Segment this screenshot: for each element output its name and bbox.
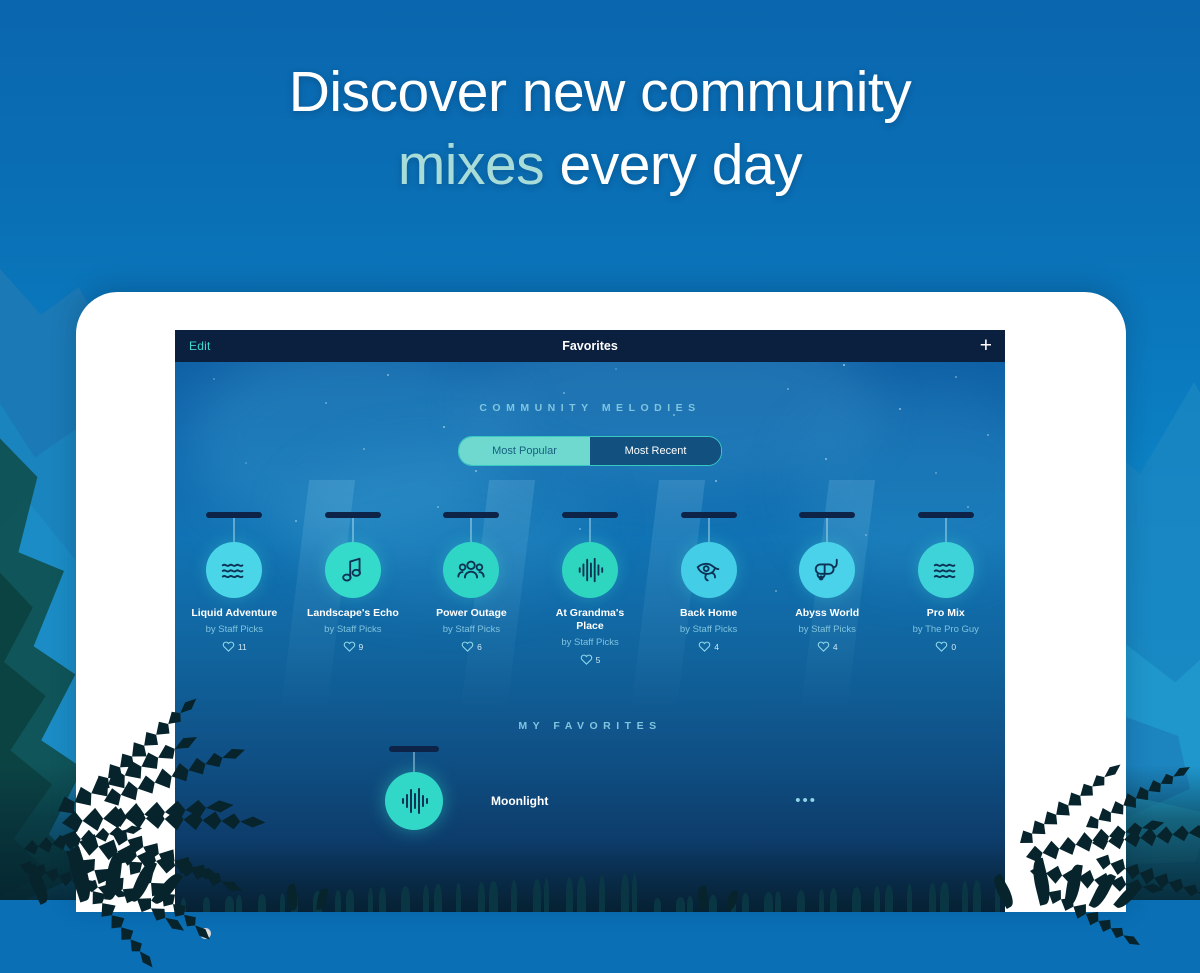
grass-blade	[830, 888, 837, 912]
lamp-cord	[233, 518, 235, 544]
melody-card[interactable]: At Grandma's Place by Staff Picks 5	[531, 512, 650, 666]
star	[437, 506, 439, 508]
tab-most-popular[interactable]: Most Popular	[459, 437, 590, 465]
star	[935, 472, 937, 474]
heart-icon	[222, 640, 235, 653]
app-navbar: Edit Favorites +	[175, 330, 1005, 362]
grass-blade	[478, 882, 485, 912]
grass-blade	[654, 898, 661, 912]
melody-card[interactable]: Abyss World by Staff Picks 4	[768, 512, 887, 666]
grass-blade	[819, 889, 824, 912]
headline-line-1: Discover new community	[0, 56, 1200, 129]
grass-blade	[621, 874, 629, 912]
favorite-lamp	[385, 746, 443, 830]
waveform-icon[interactable]	[385, 772, 443, 830]
melody-author: by Staff Picks	[680, 624, 737, 635]
waves-icon[interactable]	[918, 542, 974, 598]
tab-most-recent[interactable]: Most Recent	[590, 437, 721, 465]
grass-blade	[874, 886, 880, 912]
melody-title: Liquid Adventure	[191, 607, 277, 620]
star	[967, 506, 969, 508]
grass-blade	[280, 893, 285, 912]
like-count: 0	[951, 642, 956, 652]
melody-title: At Grandma's Place	[543, 607, 637, 633]
melody-card[interactable]: Liquid Adventure by Staff Picks 11	[175, 512, 294, 666]
headline-line-2: mixes every day	[0, 129, 1200, 202]
melody-author: by The Pro Guy	[913, 624, 979, 635]
lamp-cord	[470, 518, 472, 544]
grass-blade	[632, 873, 637, 912]
like-counter[interactable]: 6	[461, 640, 482, 653]
grass-blade	[764, 892, 773, 912]
melody-card[interactable]: Landscape's Echo by Staff Picks 9	[294, 512, 413, 666]
community-melodies-list: Liquid Adventure by Staff Picks 11 Lands…	[175, 512, 1005, 666]
melody-title: Landscape's Echo	[307, 607, 399, 620]
like-count: 6	[477, 642, 482, 652]
grass-blade	[797, 890, 805, 912]
grass-blade	[368, 888, 373, 912]
diving-mask-icon[interactable]	[799, 542, 855, 598]
lamp-cord	[708, 518, 710, 544]
waves-icon[interactable]	[206, 542, 262, 598]
melody-author: by Staff Picks	[561, 637, 618, 648]
melody-title: Pro Mix	[927, 607, 965, 620]
grass-blade	[676, 897, 685, 912]
app-screen: Edit Favorites + COMMUNITY MELODIES Most…	[175, 330, 1005, 912]
lamp-cord	[826, 518, 828, 544]
app-content: COMMUNITY MELODIES Most Popular Most Rec…	[175, 362, 1005, 466]
grass-blade	[258, 894, 266, 912]
like-counter[interactable]: 4	[698, 640, 719, 653]
headline-rest: every day	[544, 133, 802, 197]
grass-blade	[423, 885, 429, 912]
list-item[interactable]: Moonlight •••	[175, 746, 1005, 836]
like-counter[interactable]: 11	[222, 640, 247, 653]
lamp-cord	[352, 518, 354, 544]
heart-icon	[580, 653, 593, 666]
grass-blade	[225, 896, 234, 912]
people-group-icon[interactable]	[443, 542, 499, 598]
melody-card[interactable]: Pro Mix by The Pro Guy 0	[886, 512, 1005, 666]
like-count: 5	[596, 655, 601, 665]
lamp-cord	[945, 518, 947, 544]
community-section-title: COMMUNITY MELODIES	[175, 402, 1005, 414]
melody-title: Power Outage	[436, 607, 507, 620]
heart-icon	[343, 640, 356, 653]
favorite-title: Moonlight	[491, 794, 548, 808]
grass-blade	[742, 893, 749, 912]
like-count: 4	[714, 642, 719, 652]
grass-blade	[511, 880, 517, 912]
like-count: 9	[359, 642, 364, 652]
my-favorites-section: MY FAVORITES Moonlight •••	[175, 720, 1005, 836]
grass-blade	[940, 882, 949, 912]
grass-blade	[335, 890, 341, 912]
grass-blade	[709, 895, 717, 912]
waveform-icon[interactable]	[562, 542, 618, 598]
star	[715, 480, 717, 482]
grass-blade	[687, 896, 693, 912]
grass-blade	[544, 878, 549, 912]
add-icon[interactable]: +	[980, 337, 992, 355]
like-counter[interactable]: 5	[580, 653, 601, 666]
screen-bottom-vegetation	[175, 842, 1005, 912]
page-title: Discover new community mixes every day	[0, 56, 1200, 202]
melody-author: by Staff Picks	[206, 624, 263, 635]
grass-blade	[962, 881, 968, 912]
melody-title: Back Home	[680, 607, 737, 620]
music-note-icon[interactable]	[325, 542, 381, 598]
grass-blade	[346, 889, 354, 912]
grass-blade	[566, 877, 573, 912]
navbar-title: Favorites	[175, 339, 1005, 353]
grass-blade	[489, 881, 498, 912]
edit-button[interactable]: Edit	[189, 339, 210, 353]
grass-blade	[203, 897, 210, 912]
heart-icon	[461, 640, 474, 653]
lamp-cord	[589, 518, 591, 544]
favorites-section-title: MY FAVORITES	[175, 720, 1005, 732]
grass-blade	[973, 880, 981, 912]
melody-author: by Staff Picks	[443, 624, 500, 635]
melody-card[interactable]: Back Home by Staff Picks 4	[649, 512, 768, 666]
like-counter[interactable]: 9	[343, 640, 364, 653]
lamp-cord	[413, 752, 415, 772]
grass-blade	[907, 884, 912, 912]
star	[475, 470, 477, 472]
grass-blade	[401, 886, 410, 912]
melody-author: by Staff Picks	[798, 624, 855, 635]
grass-blade	[599, 875, 605, 912]
headline-highlight: mixes	[398, 133, 544, 197]
melody-title: Abyss World	[795, 607, 859, 620]
like-count: 4	[833, 642, 838, 652]
grass-blade	[775, 891, 781, 912]
melody-author: by Staff Picks	[324, 624, 381, 635]
grass-blade	[236, 895, 242, 912]
eye-of-horus-icon[interactable]	[681, 542, 737, 598]
grass-blade	[577, 876, 586, 912]
heart-icon	[817, 640, 830, 653]
grass-blade	[456, 883, 461, 912]
grass-blade	[533, 879, 541, 912]
heart-icon	[698, 640, 711, 653]
melody-card[interactable]: Power Outage by Staff Picks 6	[412, 512, 531, 666]
grass-blade	[929, 883, 936, 912]
more-options-icon[interactable]: •••	[795, 792, 817, 809]
like-counter[interactable]: 4	[817, 640, 838, 653]
heart-icon	[935, 640, 948, 653]
sort-segmented-control[interactable]: Most Popular Most Recent	[458, 436, 722, 466]
grass-blade	[885, 885, 893, 912]
like-count: 11	[238, 642, 247, 652]
like-counter[interactable]: 0	[935, 640, 956, 653]
grass-blade	[434, 884, 442, 912]
